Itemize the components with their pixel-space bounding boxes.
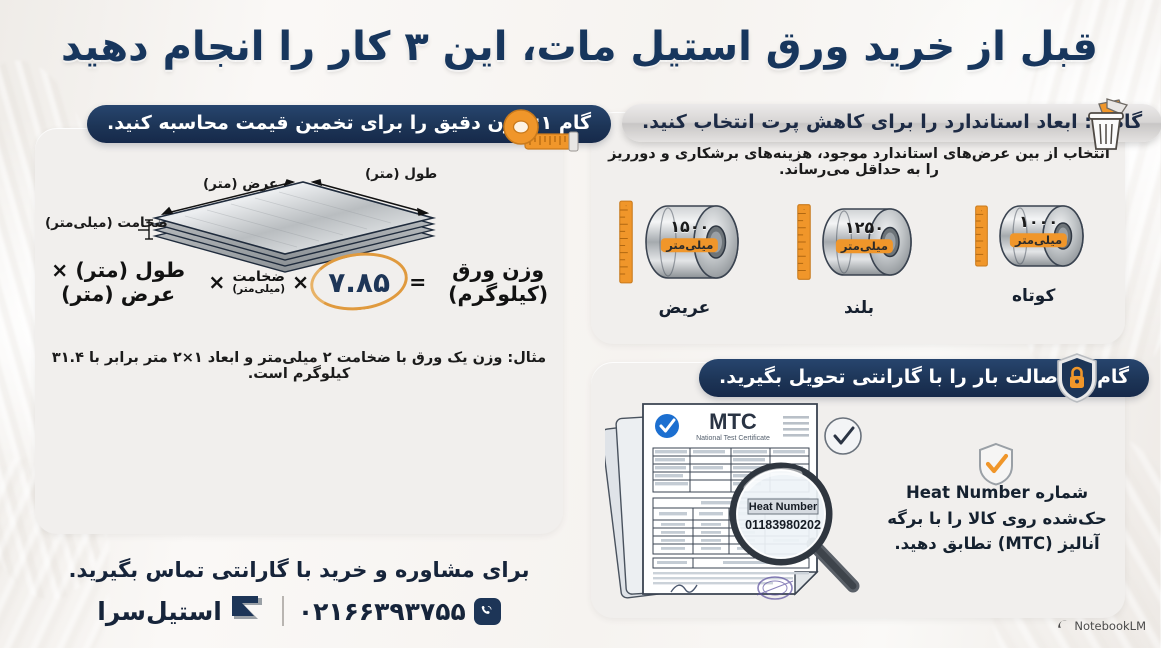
formula-constant: ۷.۸۵	[317, 264, 403, 301]
notebooklm-label: NotebookLM	[1075, 619, 1147, 633]
step3-instruction-text: شماره Heat Number حک‌شده روی کالا را با …	[876, 480, 1120, 557]
formula-times-2: ×	[293, 270, 310, 294]
trash-can-icon	[1078, 96, 1136, 154]
formula-times-1: ×	[209, 270, 226, 294]
svg-text:۰: ۰	[626, 203, 629, 209]
formula-dimensions: طول (متر) × عرض (متر)	[36, 258, 202, 306]
ruler-icon: ۰	[797, 198, 813, 286]
page-title: قبل از خرید ورق استیل مات، این ۳ کار را …	[0, 22, 1161, 72]
infographic-canvas: قبل از خرید ورق استیل مات، این ۳ کار را …	[0, 0, 1161, 648]
coil-option[interactable]: ۰	[960, 188, 1110, 306]
coil-caption: کوتاه	[1013, 286, 1056, 306]
measuring-tape-icon	[500, 108, 580, 152]
coil-value: ۱۰۰۰	[1011, 214, 1068, 231]
shield-lock-icon	[1056, 352, 1100, 404]
formula-equals: =	[410, 270, 427, 294]
coil-caption: عریض	[659, 298, 711, 318]
step2-subtitle: انتخاب از بین عرض‌های استاندارد موجود، ه…	[600, 146, 1120, 178]
formula-result: وزن ورق (کیلوگرم)	[434, 258, 564, 306]
weight-formula: وزن ورق (کیلوگرم) = ۷.۸۵ × ضخامت (میلی‌م…	[36, 258, 564, 306]
coil-label: ۱۲۵۰ میلی‌متر	[837, 220, 894, 254]
step2-label: گام ۲: ابعاد استاندارد را برای کاهش پرت …	[643, 111, 1143, 133]
footer-divider	[283, 596, 285, 626]
brand-name: استیل‌سرا	[98, 597, 223, 626]
phone-block[interactable]: ۰۲۱۶۶۳۹۳۷۵۵	[299, 597, 502, 626]
formula-thickness-top: ضخامت	[234, 270, 286, 284]
brand-logo[interactable]: استیل‌سرا	[98, 592, 269, 630]
coil-option[interactable]: ۰	[610, 188, 760, 318]
phone-icon	[475, 598, 502, 625]
coil-label: ۱۵۰۰ میلی‌متر	[662, 219, 719, 253]
coil-unit: میلی‌متر	[837, 239, 894, 253]
step1-example-text: مثال: وزن یک ورق با ضخامت ۲ میلی‌متر و ا…	[36, 350, 564, 382]
coil-unit: میلی‌متر	[1011, 233, 1068, 247]
formula-thickness-fraction: ضخامت (میلی‌متر)	[233, 270, 286, 295]
steelsara-logo-icon	[229, 592, 269, 630]
mtc-certificate-illustration: MTC National Test Certificate	[606, 396, 868, 608]
certificate-subtitle: National Test Certificate	[697, 435, 771, 442]
sheet-width-label: عرض (متر)	[204, 176, 279, 192]
notebooklm-icon	[1057, 618, 1070, 634]
ruler-icon: ۰	[975, 198, 990, 274]
coil-options-group: ۰	[598, 188, 1122, 336]
sheet-length-label: طول (متر)	[366, 166, 438, 182]
coil-option[interactable]: ۰	[785, 188, 935, 318]
footer-contact-row: استیل‌سرا ۰۲۱۶۶۳۹۳۷۵۵	[36, 592, 564, 630]
svg-text:۰: ۰	[804, 207, 807, 213]
coil-value: ۱۵۰۰	[662, 219, 719, 236]
phone-number: ۰۲۱۶۶۳۹۳۷۵۵	[299, 597, 467, 626]
ruler-icon: ۰	[619, 194, 635, 290]
formula-thickness-bottom: (میلی‌متر)	[233, 284, 286, 295]
certificate-title: MTC	[710, 409, 758, 434]
coil-label: ۱۰۰۰ میلی‌متر	[1011, 214, 1068, 248]
heat-number-value: 01183980202	[746, 518, 822, 532]
coil-unit: میلی‌متر	[662, 238, 719, 252]
notebooklm-watermark: NotebookLM	[1057, 618, 1147, 634]
footer-cta: برای مشاوره و خرید با گارانتی تماس بگیری…	[36, 558, 564, 582]
coil-value: ۱۲۵۰	[837, 220, 894, 237]
coil-caption: بلند	[845, 298, 875, 318]
heat-number-label: Heat Number	[750, 501, 819, 513]
sheet-thickness-label: ضخامت (میلی‌متر)	[46, 215, 169, 231]
svg-text:۰: ۰	[981, 208, 984, 214]
